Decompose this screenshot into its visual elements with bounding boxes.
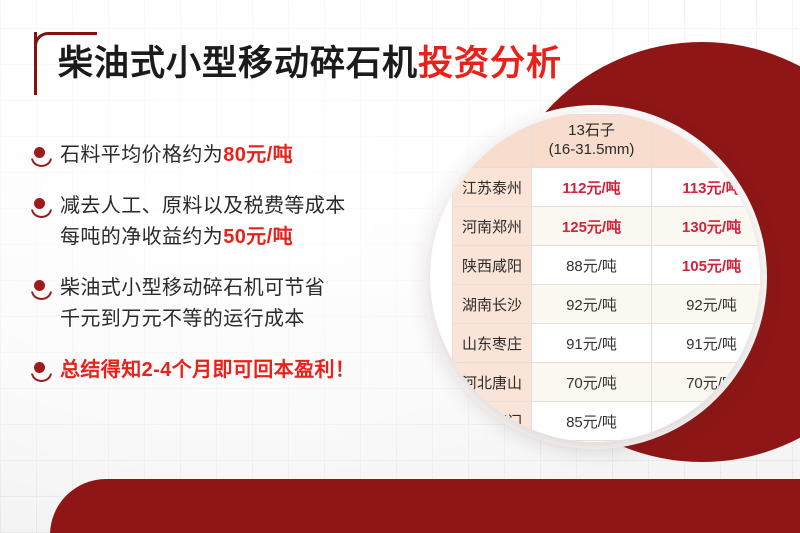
price-table-header-row: 13石子 (16-31.5mm) (10- [453,115,761,168]
price-table: 13石子 (16-31.5mm) (10- 江苏泰州112元/吨113元/吨河南… [452,114,760,442]
bullet-line: 石料平均价格约为80元/吨 [60,140,293,171]
table-cell-price: 113元/吨 [652,168,761,207]
bullet-dot-icon [34,147,45,158]
bullet-item: 总结得知2-4个月即可回本盈利！ [30,355,450,386]
infographic-stage: 柴油式小型移动碎石机投资分析 石料平均价格约为80元/吨减去人工、原料以及税费等… [0,0,800,533]
table-row: ———— [453,441,761,443]
table-cell-region: 福建厦门 [453,402,532,441]
price-table-body: 江苏泰州112元/吨113元/吨河南郑州125元/吨130元/吨陕西咸阳88元/… [453,168,761,443]
table-row: 河北唐山70元/吨70元/吨 [453,363,761,402]
table-cell-price: 92元/吨 [532,285,652,324]
table-cell-price: 92元/吨 [652,285,761,324]
price-table-col-header-0: 13石子 (16-31.5mm) [532,115,652,168]
table-row: 福建厦门85元/吨85元/吨 [453,402,761,441]
table-cell-price: 105元/吨 [652,246,761,285]
table-cell-region: 河南郑州 [453,207,532,246]
price-table-head: 13石子 (16-31.5mm) (10- [453,115,761,168]
bullet-marker-icon [30,196,52,218]
table-cell-price: 88元/吨 [532,246,652,285]
bullet-line: 每吨的净收益约为50元/吨 [60,222,346,253]
table-cell-region: 湖南长沙 [453,285,532,324]
bullet-segment: 千元到万元不等的运行成本 [60,308,305,330]
table-cell-price: 85元/吨 [532,402,652,441]
table-cell-price: 70元/吨 [652,363,761,402]
bullet-segment: 石料平均价格约为 [60,144,223,166]
bullet-segment: 每吨的净收益约为 [60,226,223,248]
table-cell-price: 125元/吨 [532,207,652,246]
table-cell-region: 陕西咸阳 [453,246,532,285]
table-cell-price: 91元/吨 [532,324,652,363]
bullet-dot-icon [34,280,45,291]
price-table-col-header-1: (10- [652,115,761,168]
bullet-list: 石料平均价格约为80元/吨减去人工、原料以及税费等成本每吨的净收益约为50元/吨… [30,140,450,406]
bullet-line: 千元到万元不等的运行成本 [60,304,325,335]
bullet-item: 石料平均价格约为80元/吨 [30,140,450,171]
bullet-segment: 50元/吨 [223,226,293,248]
bullet-line: 减去人工、原料以及税费等成本 [60,191,346,222]
bullet-text: 柴油式小型移动碎石机可节省千元到万元不等的运行成本 [60,273,325,335]
col-header-name-0: 13石子 [532,122,651,141]
table-row: 陕西咸阳88元/吨105元/吨 [453,246,761,285]
bullet-item: 柴油式小型移动碎石机可节省千元到万元不等的运行成本 [30,273,450,335]
page-title-main: 柴油式小型移动碎石机 [58,44,418,83]
table-cell-price: —— [652,441,761,443]
table-cell-price: —— [532,441,652,443]
magnifier-inner: 13石子 (16-31.5mm) (10- 江苏泰州112元/吨113元/吨河南… [430,112,760,442]
table-cell-region: 山东枣庄 [453,324,532,363]
table-row: 河南郑州125元/吨130元/吨 [453,207,761,246]
table-cell-price: 91元/吨 [652,324,761,363]
table-row: 江苏泰州112元/吨113元/吨 [453,168,761,207]
price-table-corner-cell [453,115,532,168]
bullet-segment: 80元/吨 [223,144,293,166]
col-header-spec-1: (10- [652,132,760,151]
bullet-segment: 减去人工、原料以及税费等成本 [60,195,346,217]
page-title: 柴油式小型移动碎石机投资分析 [58,44,562,84]
bullet-line: 总结得知2-4个月即可回本盈利！ [60,355,355,386]
page-title-accent: 投资分析 [418,44,562,83]
table-cell-region: 河北唐山 [453,363,532,402]
bullet-segment: 总结得知2-4个月即可回本盈利！ [60,359,355,381]
table-cell-region: 江苏泰州 [453,168,532,207]
bullet-line: 柴油式小型移动碎石机可节省 [60,273,325,304]
table-cell-price: 130元/吨 [652,207,761,246]
bullet-text: 总结得知2-4个月即可回本盈利！ [60,355,355,386]
magnifier-circle: 13石子 (16-31.5mm) (10- 江苏泰州112元/吨113元/吨河南… [430,112,760,442]
table-row: 山东枣庄91元/吨91元/吨 [453,324,761,363]
table-cell-price: 112元/吨 [532,168,652,207]
table-row: 湖南长沙92元/吨92元/吨 [453,285,761,324]
col-header-spec-0: (16-31.5mm) [532,141,651,160]
decorative-bottom-band [50,479,800,533]
bullet-segment: 柴油式小型移动碎石机可节省 [60,277,325,299]
bullet-marker-icon [30,145,52,167]
bullet-dot-icon [34,362,45,373]
bullet-text: 减去人工、原料以及税费等成本每吨的净收益约为50元/吨 [60,191,346,253]
bullet-text: 石料平均价格约为80元/吨 [60,140,293,171]
table-cell-price: 85元/吨 [652,402,761,441]
bullet-item: 减去人工、原料以及税费等成本每吨的净收益约为50元/吨 [30,191,450,253]
bullet-marker-icon [30,278,52,300]
bullet-dot-icon [34,198,45,209]
table-cell-region [453,441,532,443]
bullet-marker-icon [30,360,52,382]
table-cell-price: 70元/吨 [532,363,652,402]
